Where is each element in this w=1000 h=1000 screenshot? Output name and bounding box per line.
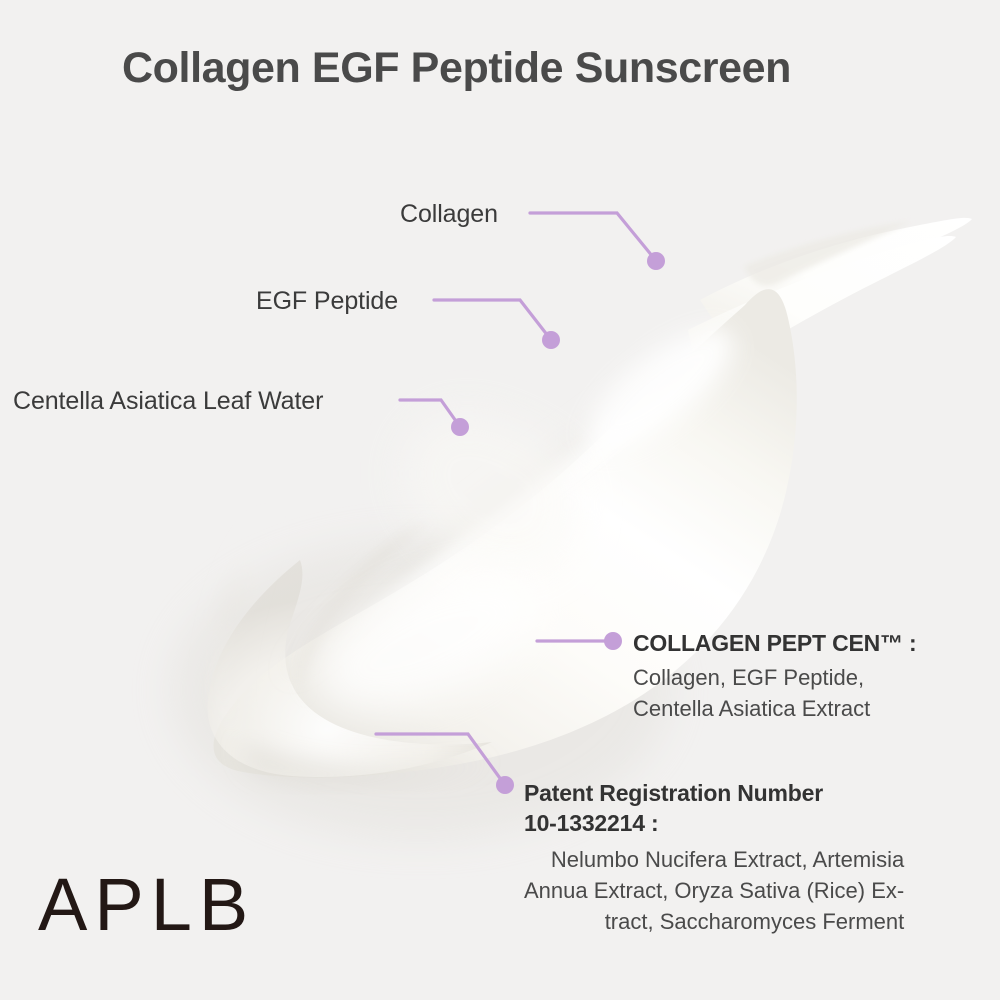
ingredient-line: Centella Asiatica Extract [633,693,917,724]
ingredient-line: Annua Extract, Oryza Sativa (Rice) Ex- [524,875,904,906]
leader-dot-collagen [647,252,665,270]
leader-line-centella [400,400,458,424]
leader-dot-centella [451,418,469,436]
ingredient-line: tract, Saccharomyces Ferment [524,906,904,937]
collagen-pept-cen-heading: COLLAGEN PEPT CEN™ : [633,628,917,658]
page-title: Collagen EGF Peptide Sunscreen [122,44,791,93]
ingredient-line: Collagen, EGF Peptide, [633,662,917,693]
leader-dot-pept [604,632,622,650]
leader-line-patent [376,734,502,781]
patent-registration-heading-line2: 10-1332214 : [524,808,904,838]
brand-logo-aplb: APLB [38,862,255,947]
collagen-pept-cen-block: COLLAGEN PEPT CEN™ : Collagen, EGF Pepti… [633,628,917,724]
callout-label-collagen: Collagen [400,200,498,229]
product-ingredient-infographic: Collagen EGF Peptide Sunscreen Collagen … [0,0,1000,1000]
leader-dot-patent [496,776,514,794]
collagen-pept-cen-ingredients: Collagen, EGF Peptide, Centella Asiatica… [633,662,917,724]
patent-ingredients: Nelumbo Nucifera Extract, Artemisia Annu… [524,844,904,937]
callout-label-egf-peptide: EGF Peptide [256,287,398,316]
leader-line-collagen [530,213,653,257]
leader-dot-egf [542,331,560,349]
leader-line-egf [434,300,548,336]
ingredient-line: Nelumbo Nucifera Extract, Artemisia [524,844,904,875]
patent-registration-heading-line1: Patent Registration Number [524,778,904,808]
callout-label-centella-asiatica-leaf-water: Centella Asiatica Leaf Water [13,387,323,416]
patent-registration-block: Patent Registration Number 10-1332214 : … [524,778,904,937]
